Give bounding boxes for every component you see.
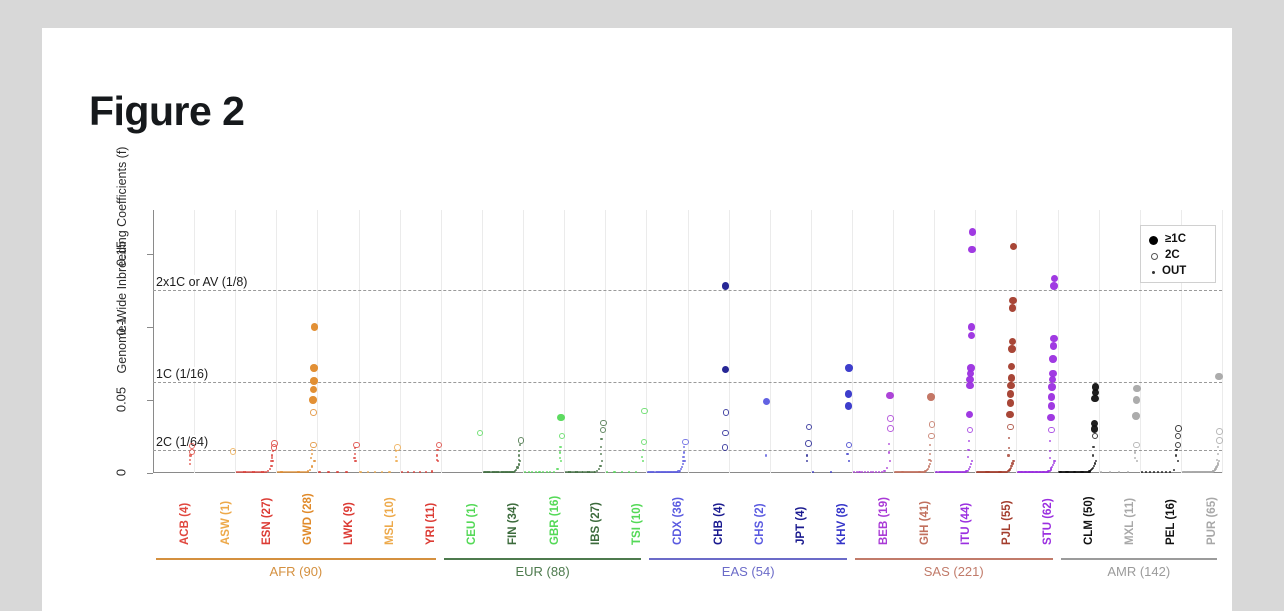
data-point <box>1118 471 1120 473</box>
data-point <box>1007 382 1015 390</box>
data-point <box>394 444 401 451</box>
data-point <box>189 459 191 461</box>
data-point <box>967 427 974 434</box>
data-point <box>1053 462 1055 464</box>
data-point <box>359 471 361 473</box>
figure-card: Figure 2 Genome-Wide Inbreeding Coeffici… <box>42 28 1232 611</box>
data-point <box>311 323 319 331</box>
data-point <box>864 471 866 473</box>
data-point <box>682 439 689 446</box>
data-point <box>557 414 565 422</box>
y-tick-label: 0.05 <box>114 379 129 419</box>
data-point <box>535 471 537 473</box>
data-point <box>1049 450 1051 452</box>
data-point <box>722 282 730 290</box>
data-point <box>1049 370 1057 378</box>
data-point <box>560 460 562 462</box>
data-point <box>929 463 931 465</box>
data-point <box>336 471 338 473</box>
data-point <box>270 460 272 462</box>
data-point <box>310 409 317 416</box>
data-point <box>546 471 548 473</box>
superpopulation-label-sas: SAS (221) <box>855 564 1053 579</box>
data-point <box>682 460 684 462</box>
population-label-chs: CHS (2) <box>754 503 766 545</box>
data-point <box>1011 462 1013 464</box>
data-point <box>1157 471 1159 473</box>
superpopulation-bar-sas <box>855 558 1053 560</box>
data-point <box>1095 460 1097 462</box>
data-point <box>1094 462 1096 464</box>
data-point <box>1134 451 1136 453</box>
population-label-mxl: MXL (11) <box>1124 498 1136 545</box>
data-point <box>968 332 976 340</box>
data-point <box>1161 471 1163 473</box>
gridline <box>729 210 730 473</box>
data-point <box>621 471 623 473</box>
data-point <box>345 471 347 473</box>
data-point <box>1092 433 1099 440</box>
population-label-acb: ACB (4) <box>179 503 191 545</box>
filled-circle-icon <box>1149 236 1158 245</box>
data-point <box>309 396 317 404</box>
data-point <box>846 453 848 455</box>
data-point <box>1093 465 1095 467</box>
data-point <box>1048 427 1055 434</box>
data-point <box>1009 297 1017 305</box>
data-point <box>271 454 273 456</box>
data-point <box>601 460 603 462</box>
data-point <box>1145 471 1147 473</box>
gridline <box>194 210 195 473</box>
data-point <box>722 430 729 437</box>
data-point <box>538 471 540 473</box>
gridline <box>235 210 236 473</box>
data-point <box>599 465 601 467</box>
data-point <box>553 471 555 473</box>
data-point <box>600 446 602 448</box>
data-point <box>830 471 832 473</box>
data-point <box>682 463 684 465</box>
population-label-tsi: TSI (10) <box>631 503 643 545</box>
data-point <box>1053 460 1055 462</box>
data-point <box>970 463 972 465</box>
population-label-jpt: JPT (4) <box>795 507 807 545</box>
data-point <box>887 425 894 432</box>
data-point <box>310 377 318 385</box>
data-point <box>641 456 643 458</box>
y-tick <box>147 473 153 474</box>
data-point <box>310 457 312 459</box>
data-point <box>515 469 517 471</box>
data-point <box>1009 304 1017 312</box>
data-point <box>966 411 974 419</box>
data-point <box>1008 374 1016 382</box>
data-point <box>518 459 520 461</box>
data-point <box>374 471 376 473</box>
data-point <box>1216 428 1223 435</box>
data-point <box>806 460 808 462</box>
superpopulation-label-amr: AMR (142) <box>1061 564 1217 579</box>
data-point <box>1007 390 1015 398</box>
data-point <box>367 471 369 473</box>
open-circle-icon <box>1151 253 1158 260</box>
data-point <box>1092 467 1094 469</box>
reference-line-label: 2x1C or AV (1/8) <box>155 275 250 289</box>
data-point <box>1006 411 1014 419</box>
data-point <box>867 471 869 473</box>
population-label-asw: ASW (1) <box>220 501 232 545</box>
y-tick <box>147 254 153 255</box>
superpopulation-bar-amr <box>1061 558 1217 560</box>
gridline <box>688 210 689 473</box>
data-point <box>1217 453 1219 455</box>
legend-label: OUT <box>1162 266 1186 278</box>
data-point <box>1049 457 1051 459</box>
y-tick-label: 0.1 <box>114 306 129 346</box>
data-point <box>1109 471 1111 473</box>
data-point <box>968 246 976 254</box>
data-point <box>1173 469 1175 471</box>
population-label-pur: PUR (65) <box>1206 497 1218 545</box>
population-label-khv: KHV (8) <box>836 503 848 545</box>
population-label-ceu: CEU (1) <box>466 503 478 545</box>
y-axis-line <box>153 210 154 473</box>
gridline <box>276 210 277 473</box>
legend-label: 2C <box>1165 250 1180 262</box>
data-point <box>310 364 318 372</box>
data-point <box>436 442 443 449</box>
data-point <box>419 471 421 473</box>
data-point <box>1051 466 1053 468</box>
y-tick <box>147 327 153 328</box>
data-point <box>805 440 812 447</box>
small-dot-icon <box>1152 271 1155 274</box>
data-point <box>436 454 438 456</box>
gridline <box>852 210 853 473</box>
data-point <box>1048 393 1056 401</box>
data-point <box>395 456 397 458</box>
data-point <box>1048 383 1056 391</box>
data-point <box>1008 345 1016 353</box>
data-point <box>311 453 313 455</box>
gridline <box>523 210 524 473</box>
data-point <box>929 421 936 428</box>
gridline <box>1058 210 1059 473</box>
population-label-gbr: GBR (16) <box>549 496 561 545</box>
data-point <box>1008 437 1010 439</box>
data-point <box>556 468 558 470</box>
data-point <box>425 471 427 473</box>
data-point <box>682 456 684 458</box>
data-point <box>559 451 561 453</box>
population-label-gwd: GWD (28) <box>302 493 314 545</box>
data-point <box>1092 446 1094 448</box>
data-point <box>1007 454 1009 456</box>
population-label-pel: PEL (16) <box>1165 499 1177 545</box>
data-point <box>516 466 518 468</box>
data-point <box>1010 465 1012 467</box>
scatter-plot: Genome-Wide Inbreeding Coefficients (f) … <box>42 28 1232 611</box>
data-point <box>968 323 976 331</box>
data-point <box>318 471 320 473</box>
legend-item-c2: 2C <box>1149 248 1209 264</box>
data-point <box>929 444 931 446</box>
data-point <box>230 448 237 455</box>
data-point <box>271 440 278 447</box>
data-point <box>1050 335 1058 343</box>
data-point <box>969 228 977 236</box>
data-point <box>1175 454 1177 456</box>
data-point <box>1133 396 1141 404</box>
data-point <box>1049 355 1057 363</box>
data-point <box>1175 425 1182 432</box>
data-point <box>353 442 360 449</box>
data-point <box>311 465 313 467</box>
data-point <box>1008 447 1010 449</box>
data-point <box>848 460 850 462</box>
data-point <box>519 444 521 446</box>
superpopulation-bar-eur <box>444 558 642 560</box>
reference-line <box>153 450 1222 451</box>
data-point <box>887 415 894 422</box>
data-point <box>681 466 683 468</box>
data-point <box>1010 467 1012 469</box>
data-point <box>888 451 890 453</box>
data-point <box>401 471 403 473</box>
population-label-ibs: IBS (27) <box>590 502 602 545</box>
gridline <box>1016 210 1017 473</box>
data-point <box>600 420 607 427</box>
population-label-itu: ITU (44) <box>960 503 972 545</box>
gridline <box>605 210 606 473</box>
data-point <box>723 409 730 416</box>
population-label-chb: CHB (4) <box>713 503 725 545</box>
data-point <box>1141 471 1143 473</box>
data-point <box>927 468 929 470</box>
data-point <box>683 446 685 448</box>
superpopulation-label-afr: AFR (90) <box>156 564 436 579</box>
data-point <box>888 443 890 445</box>
data-point <box>354 460 356 462</box>
data-point <box>683 451 685 453</box>
gridline <box>1099 210 1100 473</box>
data-point <box>1048 402 1056 410</box>
data-point <box>311 449 313 451</box>
superpopulation-label-eas: EAS (54) <box>649 564 847 579</box>
data-point <box>1153 471 1155 473</box>
data-point <box>1218 460 1220 462</box>
data-point <box>407 471 409 473</box>
data-point <box>928 459 930 461</box>
legend-item-out: OUT <box>1149 264 1209 280</box>
gridline <box>400 210 401 473</box>
data-point <box>1175 449 1177 451</box>
gridline <box>770 210 771 473</box>
data-point <box>886 467 888 469</box>
data-point <box>628 471 630 473</box>
data-point <box>1050 342 1058 350</box>
gridline <box>359 210 360 473</box>
data-point <box>1215 373 1223 381</box>
data-point <box>327 471 329 473</box>
data-point <box>846 442 853 449</box>
data-point <box>598 468 600 470</box>
data-point <box>967 449 969 451</box>
gridline <box>317 210 318 473</box>
data-point <box>1092 454 1094 456</box>
data-point <box>1100 471 1102 473</box>
data-point <box>1136 460 1138 462</box>
data-point <box>436 449 438 451</box>
data-point <box>395 460 397 462</box>
data-point <box>641 408 648 415</box>
reference-line-label: 2C (1/64) <box>155 435 211 449</box>
data-point <box>310 442 317 449</box>
data-point <box>600 438 602 440</box>
y-tick-label: 0.15 <box>114 233 129 273</box>
data-point <box>388 471 390 473</box>
data-point <box>309 469 311 471</box>
population-label-beb: BEB (19) <box>878 497 890 545</box>
data-point <box>765 454 767 456</box>
superpopulation-bar-eas <box>649 558 847 560</box>
data-point <box>1165 471 1167 473</box>
data-point <box>1009 338 1017 346</box>
data-point <box>845 364 853 372</box>
data-point <box>354 453 356 455</box>
data-point <box>518 437 525 444</box>
data-point <box>1007 399 1015 407</box>
data-point <box>928 433 935 440</box>
data-point <box>559 446 561 448</box>
data-point <box>1047 414 1055 422</box>
data-point <box>642 460 644 462</box>
data-point <box>886 392 894 400</box>
data-point <box>642 449 644 451</box>
data-point <box>1049 440 1051 442</box>
y-tick-label: 0 <box>114 453 129 493</box>
data-point <box>1217 462 1219 464</box>
data-point <box>1177 460 1179 462</box>
population-label-gih: GIH (41) <box>919 501 931 545</box>
population-label-yri: YRI (11) <box>425 503 437 545</box>
superpopulation-label-eur: EUR (88) <box>444 564 642 579</box>
data-point <box>542 471 544 473</box>
population-label-stu: STU (62) <box>1042 498 1054 545</box>
data-point <box>1092 383 1100 391</box>
data-point <box>967 456 969 458</box>
plot-panel: 2x1C or AV (1/8)1C (1/16)2C (1/64) <box>153 210 1222 473</box>
data-point <box>528 471 530 473</box>
data-point <box>1132 412 1140 420</box>
gridline <box>893 210 894 473</box>
data-point <box>1216 437 1223 444</box>
data-point <box>518 463 520 465</box>
data-point <box>722 366 730 374</box>
data-point <box>431 470 433 472</box>
data-point <box>1175 442 1182 449</box>
population-label-msl: MSL (10) <box>384 497 396 545</box>
data-point <box>413 471 415 473</box>
data-point <box>1149 471 1151 473</box>
data-point <box>1133 385 1141 393</box>
data-point <box>313 460 315 462</box>
gridline <box>441 210 442 473</box>
legend: ≥1C 2C OUT <box>1140 225 1216 283</box>
data-point <box>1007 424 1014 431</box>
y-tick <box>147 400 153 401</box>
data-point <box>812 471 814 473</box>
reference-line <box>153 290 1222 291</box>
data-point <box>928 465 930 467</box>
data-point <box>270 465 272 467</box>
data-point <box>436 459 438 461</box>
data-point <box>853 471 855 473</box>
data-point <box>524 471 526 473</box>
population-label-pjl: PJL (55) <box>1001 500 1013 545</box>
superpopulation-bar-afr <box>156 558 436 560</box>
data-point <box>189 463 191 465</box>
data-point <box>889 460 891 462</box>
data-point <box>1050 282 1058 290</box>
data-point <box>927 393 935 401</box>
data-point <box>969 466 971 468</box>
gridline <box>646 210 647 473</box>
data-point <box>1217 446 1219 448</box>
figure-screenshot: Figure 2 Genome-Wide Inbreeding Coeffici… <box>0 0 1284 611</box>
reference-line-label: 1C (1/16) <box>155 367 211 381</box>
data-point <box>1127 471 1129 473</box>
data-point <box>518 454 520 456</box>
population-label-esn: ESN (27) <box>261 498 273 545</box>
data-point <box>806 454 808 456</box>
legend-item-c1: ≥1C <box>1149 232 1209 248</box>
data-point <box>600 453 602 455</box>
data-point <box>929 453 931 455</box>
data-point <box>1169 471 1171 473</box>
data-point <box>971 460 973 462</box>
data-point <box>613 471 615 473</box>
data-point <box>845 402 853 410</box>
legend-label: ≥1C <box>1165 234 1186 246</box>
data-point <box>967 364 975 372</box>
population-label-clm: CLM (50) <box>1083 496 1095 545</box>
population-label-lwk: LWK (9) <box>343 502 355 545</box>
data-point <box>1012 460 1014 462</box>
population-label-cdx: CDX (36) <box>672 497 684 545</box>
data-point <box>968 440 970 442</box>
data-point <box>1008 363 1016 371</box>
data-point <box>1133 442 1140 449</box>
gridline <box>811 210 812 473</box>
population-label-fin: FIN (34) <box>507 503 519 545</box>
data-point <box>878 471 880 473</box>
